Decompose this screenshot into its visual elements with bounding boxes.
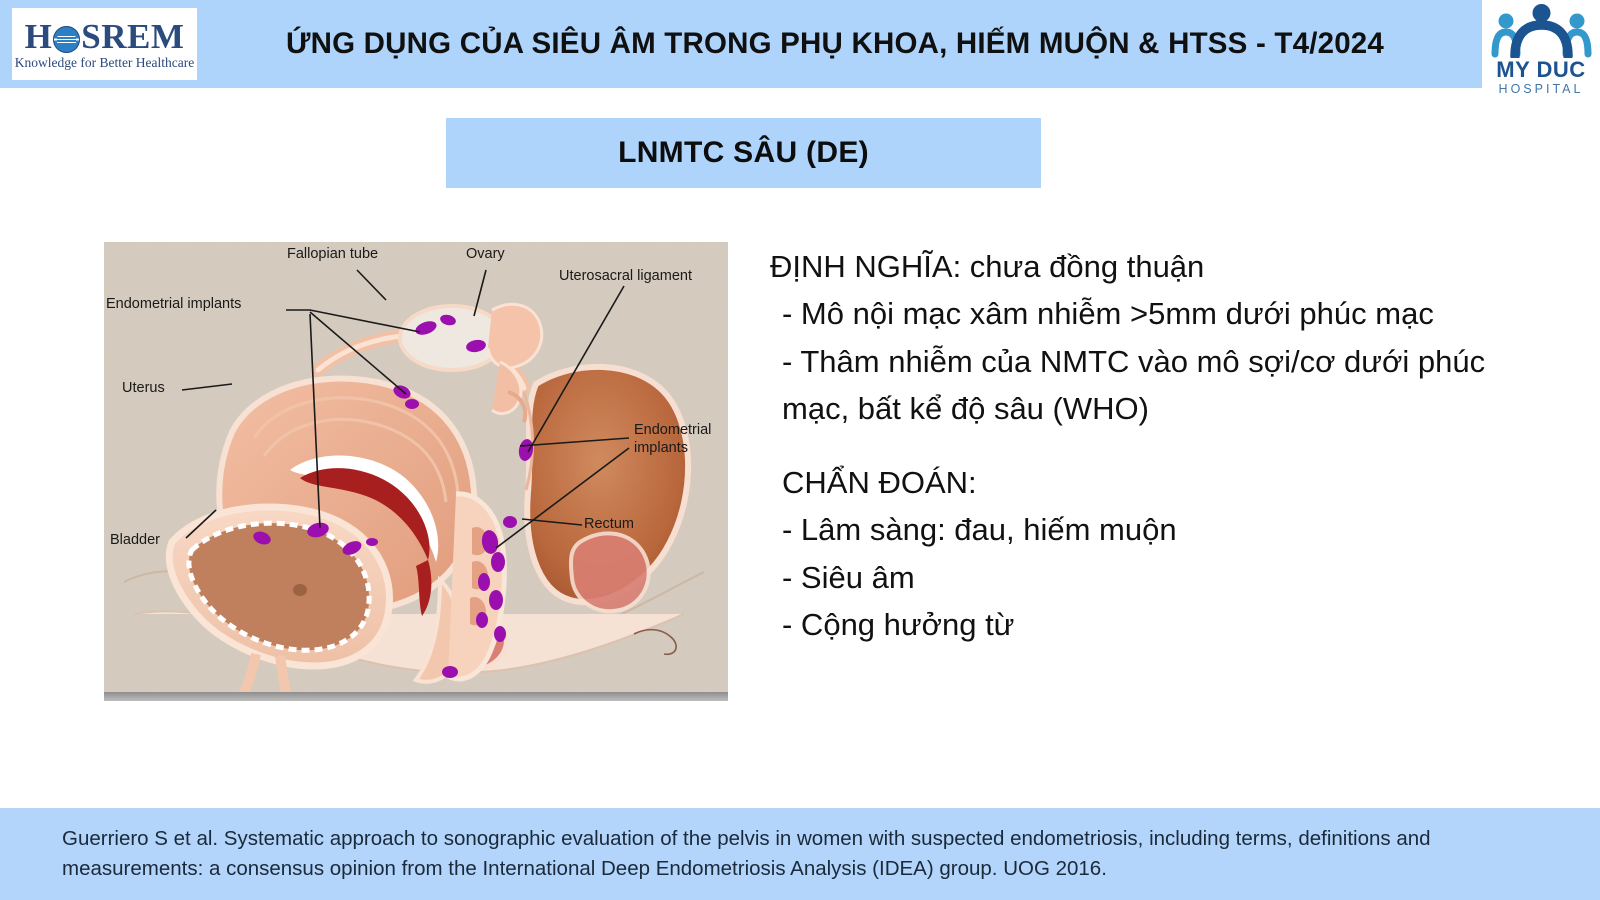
citation-text: Guerriero S et al. Systematic approach t… — [62, 824, 1562, 883]
hosrem-wordmark: H SREM — [25, 19, 185, 54]
figure-label-endometrial-implants-right-1: Endometrial — [634, 422, 711, 438]
header-band: H SREM Knowledge for Better Healthcare Ứ… — [0, 0, 1600, 88]
section-title-label: LNMTC SÂU (DE) — [618, 136, 869, 170]
definition-item-1: - Mô nội mạc xâm nhiễm >5mm dưới phúc mạ… — [770, 290, 1560, 337]
hosrem-wordmark-srem: SREM — [81, 19, 184, 54]
figure-label-endometrial-implants-right-2: implants — [634, 440, 688, 456]
figure-label-rectum: Rectum — [584, 516, 634, 532]
figure-bottom-bar — [104, 692, 728, 701]
anatomy-figure: Fallopian tube Ovary Uterosacral ligamen… — [104, 242, 728, 701]
slide-root: H SREM Knowledge for Better Healthcare Ứ… — [0, 0, 1600, 900]
myduc-wordmark: MY DUC — [1496, 59, 1585, 81]
figure-label-ovary: Ovary — [466, 246, 505, 262]
figure-label-endometrial-implants-left: Endometrial implants — [106, 296, 241, 312]
myduc-logo: MY DUC HOSPITAL — [1482, 0, 1600, 100]
diagnosis-item-3: - Cộng hưởng từ — [770, 601, 1560, 648]
figure-label-bladder: Bladder — [110, 532, 160, 548]
section-title-box: LNMTC SÂU (DE) — [446, 118, 1041, 188]
figure-label-fallopian-tube: Fallopian tube — [287, 246, 378, 262]
figure-label-uterosacral-ligament: Uterosacral ligament — [559, 268, 692, 284]
hosrem-logo: H SREM Knowledge for Better Healthcare — [12, 8, 197, 80]
diagnosis-item-2: - Siêu âm — [770, 554, 1560, 601]
definition-heading: ĐỊNH NGHĨA: chưa đồng thuận — [770, 243, 1560, 290]
hosrem-tagline: Knowledge for Better Healthcare — [15, 55, 195, 71]
myduc-subtitle: HOSPITAL — [1499, 83, 1584, 96]
myduc-people-arch-icon — [1489, 4, 1594, 58]
hosrem-wordmark-h: H — [25, 19, 53, 54]
page-title: ỨNG DỤNG CỦA SIÊU ÂM TRONG PHỤ KHOA, HIẾ… — [215, 0, 1455, 88]
definition-item-2: - Thâm nhiễm của NMTC vào mô sợi/cơ dưới… — [770, 338, 1560, 433]
diagnosis-item-1: - Lâm sàng: đau, hiếm muộn — [770, 506, 1560, 553]
footer-band: Guerriero S et al. Systematic approach t… — [0, 808, 1600, 900]
globe-icon — [53, 26, 80, 53]
content-spacer — [770, 433, 1560, 459]
diagnosis-heading: CHẨN ĐOÁN: — [770, 459, 1560, 506]
content-body: ĐỊNH NGHĨA: chưa đồng thuận - Mô nội mạc… — [770, 243, 1560, 648]
figure-label-uterus: Uterus — [122, 380, 165, 396]
